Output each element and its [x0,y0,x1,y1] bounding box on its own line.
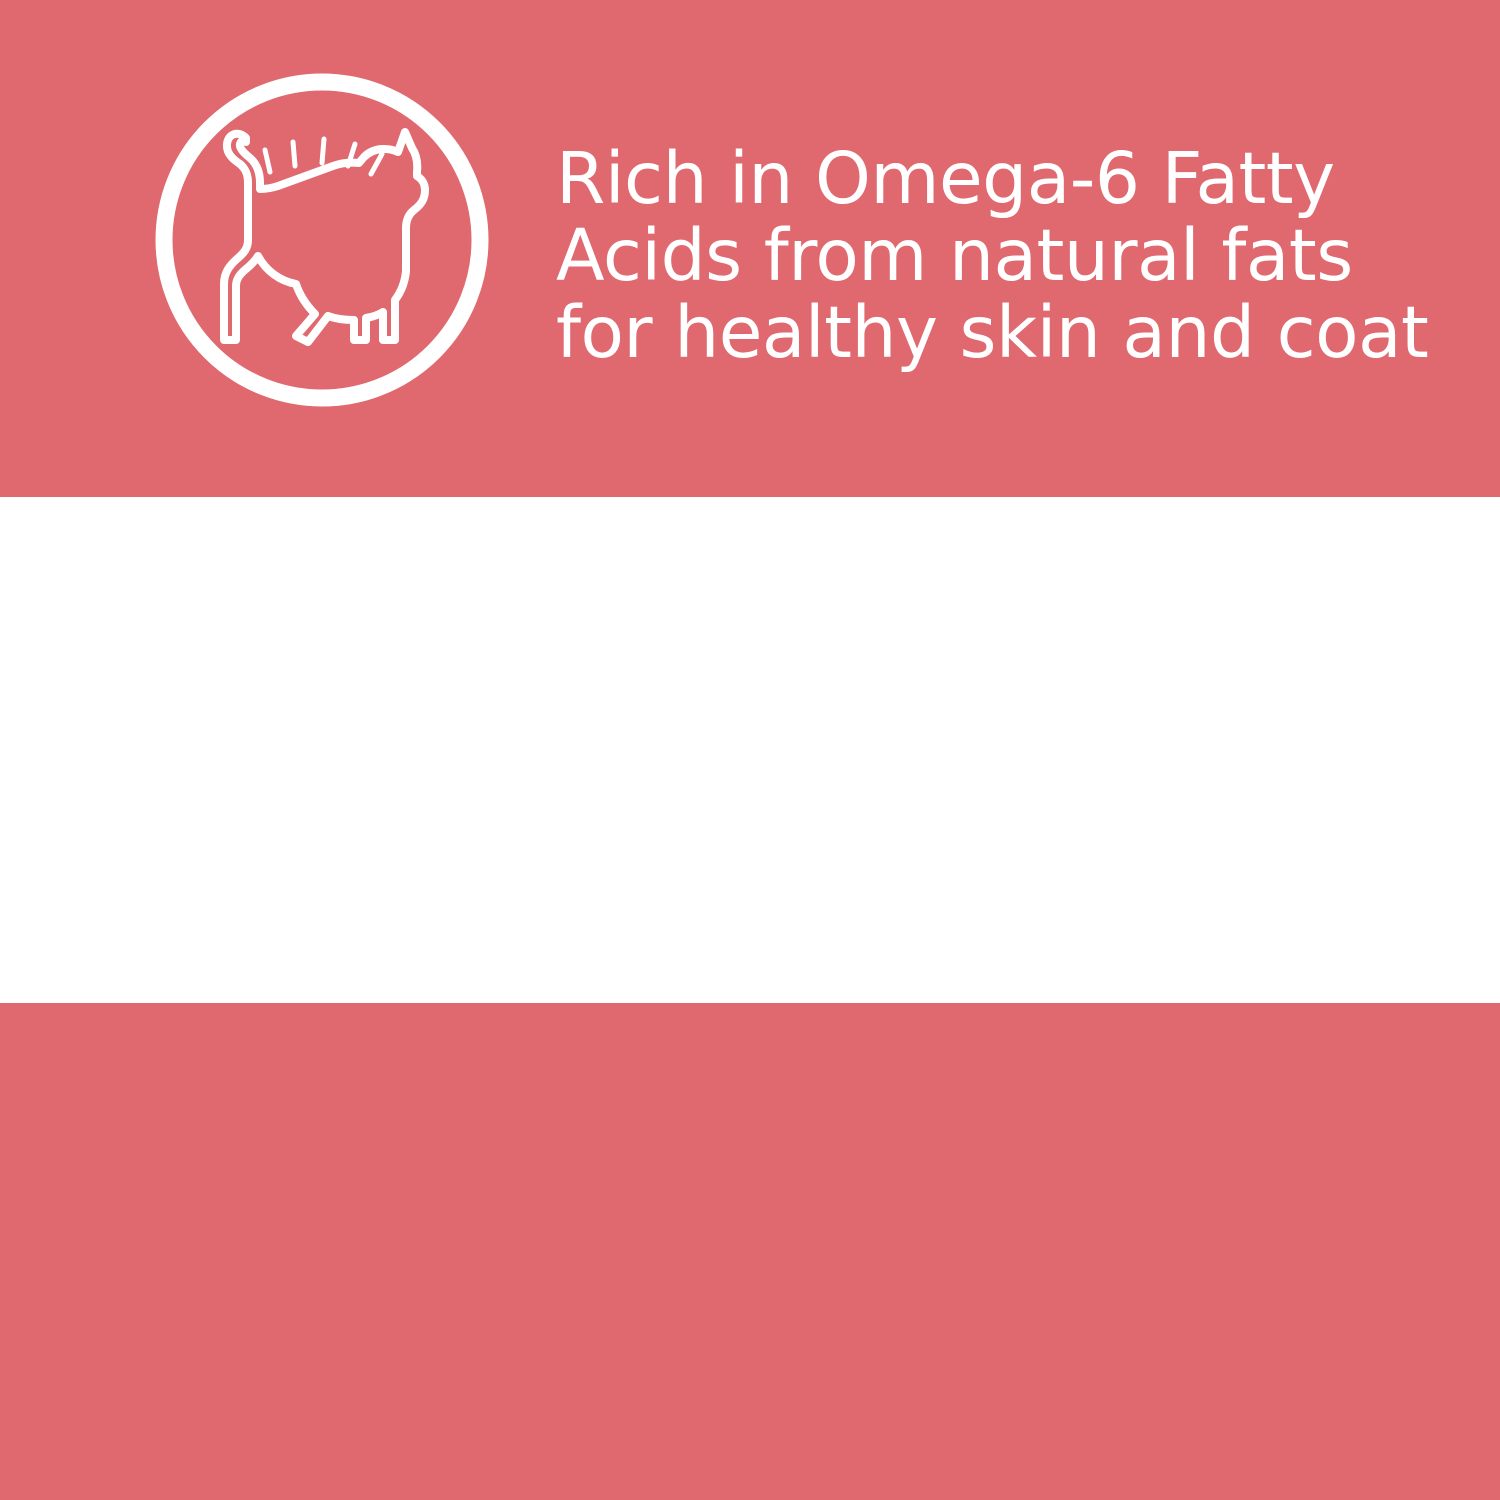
benefit-panel-antioxidants: Essential antioxidants for healthy immun… [0,497,1500,1003]
icon-circle-outline [164,82,480,398]
product-benefits-infographic: Rich in Omega-6 Fatty Acids from natural… [0,0,1500,1500]
cat-healthy-coat-icon-svg [150,68,494,412]
cat-healthy-coat-icon [150,68,494,412]
benefit-panel-fiber: Natural fiber for healthy digestion [0,1003,1500,1500]
cat-body-outline [224,132,425,342]
benefit-text-omega: Rich in Omega-6 Fatty Acids from natural… [556,140,1428,371]
benefit-panel-omega: Rich in Omega-6 Fatty Acids from natural… [0,0,1500,497]
